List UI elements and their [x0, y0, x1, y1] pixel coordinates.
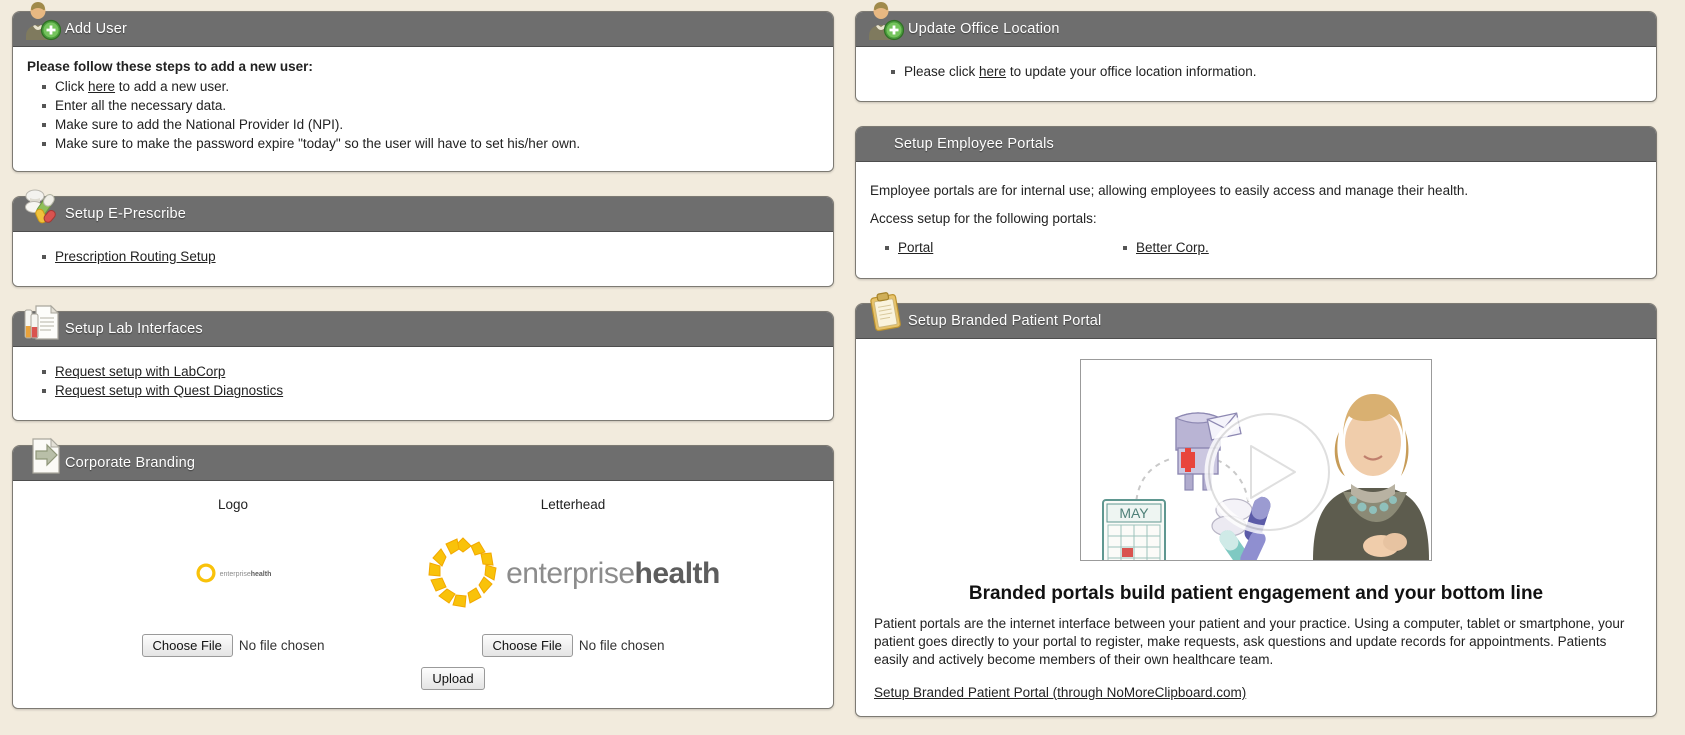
- upload-button[interactable]: Upload: [421, 667, 484, 690]
- panel-branded-portal-header: Setup Branded Patient Portal: [856, 304, 1656, 339]
- logo-file-row: Choose File No file chosen: [83, 634, 383, 657]
- list-item: Request setup with Quest Diagnostics: [55, 382, 819, 400]
- clipboard-icon: [866, 290, 906, 332]
- panel-setup-employee-portals: Setup Employee Portals Employee portals …: [855, 126, 1657, 279]
- list-item: Request setup with LabCorp: [55, 363, 819, 381]
- enterprisehealth-logo-small-icon: [195, 562, 217, 587]
- employee-portals-col2: Better Corp.: [1108, 238, 1346, 258]
- list-item: Portal: [898, 239, 1108, 257]
- panel-eprescribe-header: Setup E-Prescribe: [13, 197, 833, 232]
- step-text-before: Click: [55, 79, 88, 94]
- employee-portals-intro: Employee portals are for internal use; a…: [870, 182, 1642, 200]
- branded-portal-headline: Branded portals build patient engagement…: [874, 583, 1638, 605]
- panel-employee-portals-header: Setup Employee Portals: [856, 127, 1656, 162]
- page-arrow-icon: [25, 434, 65, 476]
- panel-add-user-title: Add User: [65, 21, 127, 37]
- logo-label: Logo: [83, 497, 383, 512]
- letterhead-label: Letterhead: [383, 497, 763, 512]
- panel-setup-eprescribe: Setup E-Prescribe Prescription Routing S…: [12, 196, 834, 287]
- office-location-list: Please click here to update your office …: [870, 63, 1642, 81]
- panel-branding-body: Logo enterprisehealth: [13, 481, 833, 708]
- letterhead-cell: Letterhead: [383, 497, 763, 657]
- logo-choose-file-button[interactable]: Choose File: [142, 634, 233, 657]
- prescription-routing-setup-link[interactable]: Prescription Routing Setup: [55, 249, 216, 264]
- panel-branding-title: Corporate Branding: [65, 455, 195, 471]
- panel-corporate-branding: Corporate Branding Logo: [12, 445, 834, 709]
- list-item: Make sure to make the password expire "t…: [55, 135, 819, 153]
- panel-lab-header: Setup Lab Interfaces: [13, 312, 833, 347]
- office-text-before: Please click: [904, 64, 979, 79]
- step-text: Make sure to add the National Provider I…: [55, 117, 343, 132]
- panel-eprescribe-title: Setup E-Prescribe: [65, 206, 186, 222]
- upload-row: Upload: [87, 667, 819, 690]
- list-item: Make sure to add the National Provider I…: [55, 116, 819, 134]
- setup-branded-patient-portal-link[interactable]: Setup Branded Patient Portal (through No…: [874, 685, 1246, 700]
- user-add-icon: [21, 0, 61, 42]
- portal-video-thumbnail[interactable]: MAY: [1080, 359, 1432, 561]
- panel-branded-portal-title: Setup Branded Patient Portal: [908, 313, 1101, 329]
- panel-office-title: Update Office Location: [908, 21, 1060, 37]
- panel-office-body: Please click here to update your office …: [856, 47, 1656, 101]
- panel-add-user-body: Please follow these steps to add a new u…: [13, 47, 833, 171]
- lab-links: Request setup with LabCorp Request setup…: [27, 363, 819, 400]
- right-column: Update Office Location Please click here…: [845, 0, 1685, 735]
- letterhead-preview: enterprisehealth: [383, 534, 763, 614]
- panel-add-user-header: Add User: [13, 12, 833, 47]
- svg-text:MAY: MAY: [1119, 505, 1149, 521]
- panel-employee-portals-title: Setup Employee Portals: [894, 136, 1054, 152]
- logo-cell: Logo enterprisehealth: [83, 497, 383, 657]
- request-setup-quest-link[interactable]: Request setup with Quest Diagnostics: [55, 383, 283, 398]
- test-tube-document-icon: [21, 300, 61, 342]
- left-column: Add User Please follow these steps to ad…: [0, 0, 845, 727]
- branded-portal-body-text: Patient portals are the internet interfa…: [874, 615, 1638, 669]
- panel-branding-header: Corporate Branding: [13, 446, 833, 481]
- list-item: Click here to add a new user.: [55, 78, 819, 96]
- panel-setup-lab-interfaces: Setup Lab Interfaces Request setup with …: [12, 311, 834, 421]
- video-wrapper: MAY: [874, 351, 1638, 565]
- add-user-lead: Please follow these steps to add a new u…: [27, 59, 819, 74]
- add-user-steps: Click here to add a new user. Enter all …: [27, 78, 819, 153]
- panel-add-user: Add User Please follow these steps to ad…: [12, 11, 834, 172]
- branding-grid: Logo enterprisehealth: [27, 491, 819, 657]
- panel-lab-body: Request setup with LabCorp Request setup…: [13, 347, 833, 420]
- logo-wordmark: enterprisehealth: [220, 571, 272, 578]
- panel-lab-title: Setup Lab Interfaces: [65, 321, 203, 337]
- panel-update-office-location: Update Office Location Please click here…: [855, 11, 1657, 102]
- panel-branded-portal-body: MAY: [856, 339, 1656, 716]
- panel-office-header: Update Office Location: [856, 12, 1656, 47]
- user-add-icon: [864, 0, 904, 42]
- add-user-here-link[interactable]: here: [88, 79, 115, 94]
- enterprisehealth-logo-icon: [426, 536, 500, 613]
- letterhead-choose-file-button[interactable]: Choose File: [482, 634, 573, 657]
- panel-eprescribe-body: Prescription Routing Setup: [13, 232, 833, 286]
- practice-setup-page: Add User Please follow these steps to ad…: [0, 0, 1685, 692]
- step-text: Make sure to make the password expire "t…: [55, 136, 580, 151]
- panel-setup-branded-patient-portal: Setup Branded Patient Portal: [855, 303, 1657, 717]
- request-setup-labcorp-link[interactable]: Request setup with LabCorp: [55, 364, 225, 379]
- portal-link[interactable]: Portal: [898, 240, 933, 255]
- better-corp-link[interactable]: Better Corp.: [1136, 240, 1209, 255]
- employee-portals-col1: Portal: [870, 238, 1108, 258]
- list-item: Better Corp.: [1136, 239, 1346, 257]
- step-text: Enter all the necessary data.: [55, 98, 226, 113]
- panel-employee-portals-body: Employee portals are for internal use; a…: [856, 162, 1656, 278]
- list-item: Prescription Routing Setup: [55, 248, 819, 266]
- list-item: Please click here to update your office …: [904, 63, 1642, 81]
- office-text-after: to update your office location informati…: [1006, 64, 1256, 79]
- letterhead-no-file-text: No file chosen: [579, 638, 665, 653]
- letterhead-wordmark: enterprisehealth: [506, 559, 720, 589]
- logo-preview: enterprisehealth: [83, 534, 383, 614]
- pills-icon: [21, 185, 61, 227]
- step-text-after: to add a new user.: [115, 79, 229, 94]
- eprescribe-links: Prescription Routing Setup: [27, 248, 819, 266]
- employee-portals-access-label: Access setup for the following portals:: [870, 210, 1642, 228]
- branded-portal-cta: Setup Branded Patient Portal (through No…: [874, 685, 1638, 700]
- list-item: Enter all the necessary data.: [55, 97, 819, 115]
- office-location-here-link[interactable]: here: [979, 64, 1006, 79]
- calendar-icon: MAY: [1103, 500, 1165, 560]
- letterhead-file-row: Choose File No file chosen: [383, 634, 763, 657]
- logo-no-file-text: No file chosen: [239, 638, 325, 653]
- employee-portals-columns: Portal Better Corp.: [870, 238, 1642, 262]
